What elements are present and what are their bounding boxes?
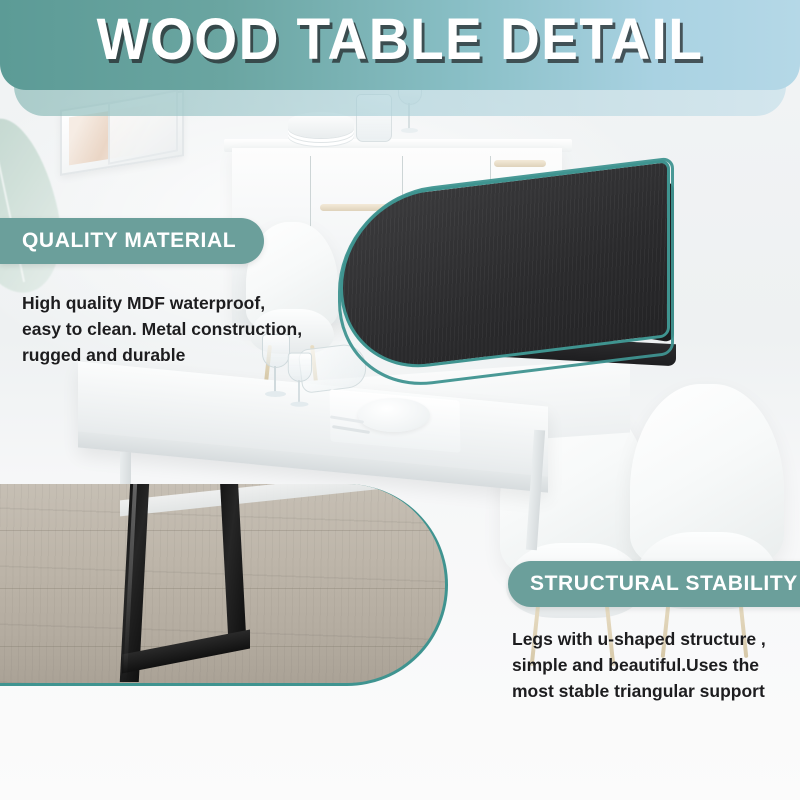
copy-quality-material: High quality MDF waterproof, easy to cle… bbox=[22, 290, 362, 368]
header-banner: WOOD TABLE DETAIL bbox=[0, 0, 800, 90]
table-leg-closeup-cutout bbox=[0, 484, 448, 686]
copy-structural-stability: Legs with u-shaped structure , simple an… bbox=[512, 626, 800, 704]
dinner-plate bbox=[358, 398, 430, 432]
tabletop-closeup-cutout bbox=[330, 160, 700, 380]
wine-glass-stem bbox=[274, 366, 276, 392]
tabletop-slab bbox=[330, 137, 700, 402]
badge-structural-stability-label: STRUCTURAL STABILITY bbox=[530, 572, 798, 596]
wine-glass-foot bbox=[290, 402, 308, 407]
badge-quality-material: QUALITY MATERIAL bbox=[0, 218, 264, 264]
wine-glass-stem bbox=[298, 380, 300, 402]
floor-plank-seam bbox=[0, 588, 445, 589]
goblet-foot bbox=[401, 128, 418, 133]
badge-structural-stability: STRUCTURAL STABILITY bbox=[508, 561, 800, 607]
infographic-canvas: WOOD TABLE DETAIL QUALITY MATERIAL High … bbox=[0, 0, 800, 800]
tabletop-teal-outline bbox=[338, 156, 674, 395]
u-leg-base-bar bbox=[122, 630, 250, 674]
page-title: WOOD TABLE DETAIL bbox=[20, 10, 780, 71]
u-leg-vertical-right bbox=[220, 484, 246, 634]
badge-quality-material-label: QUALITY MATERIAL bbox=[22, 229, 236, 253]
wine-glass-foot bbox=[265, 391, 286, 397]
